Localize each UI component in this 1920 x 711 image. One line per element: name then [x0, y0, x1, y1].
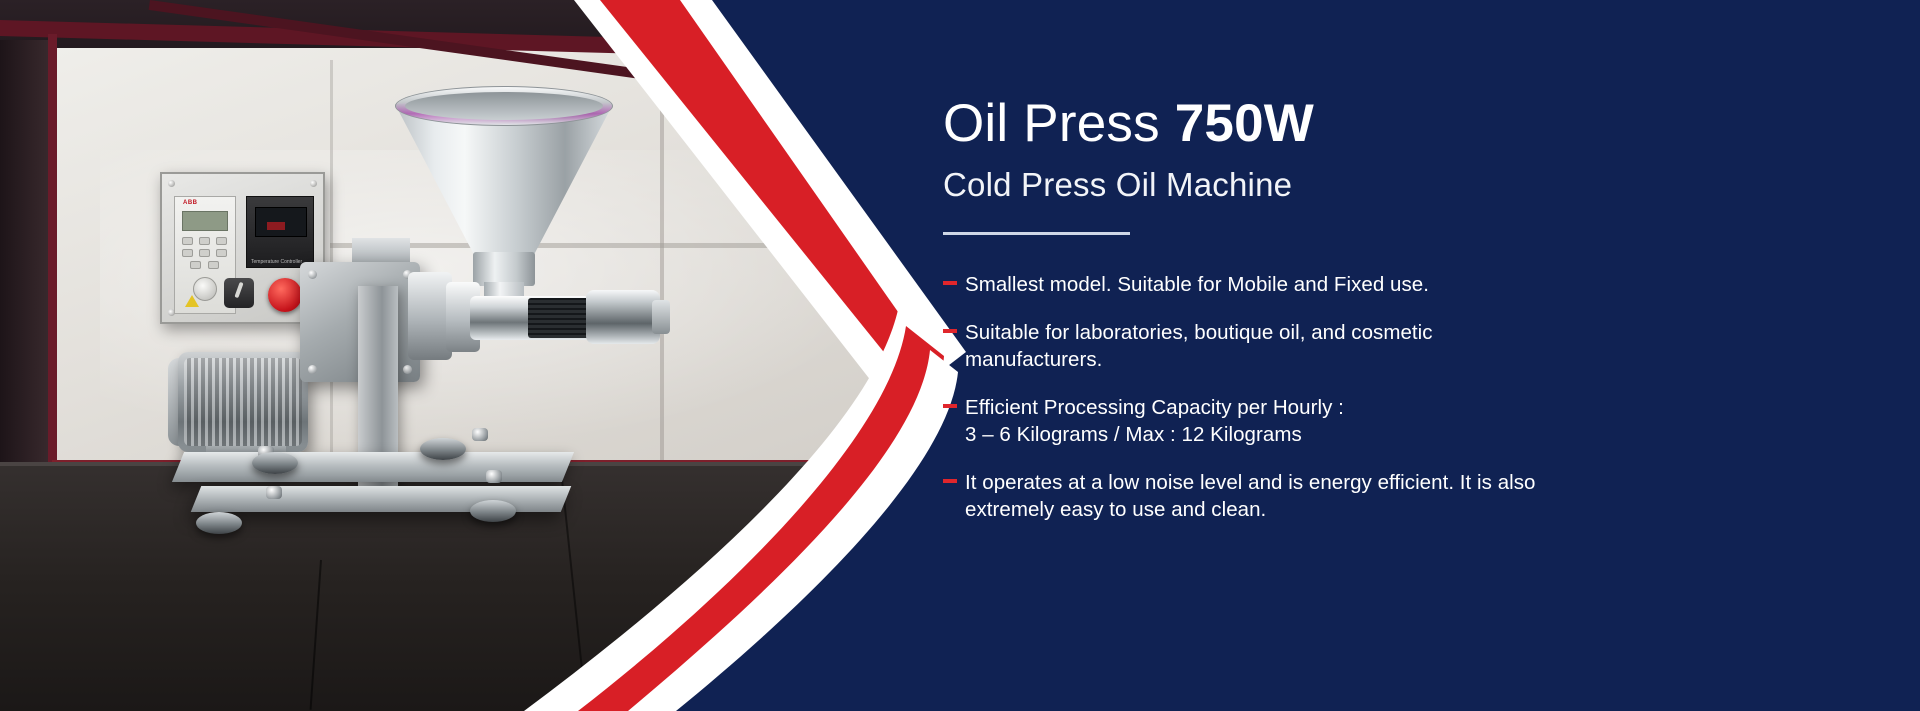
feature-text-line-1: Efficient Processing Capacity per Hourly… — [965, 396, 1344, 419]
temperature-controller-label: Temperature Controller — [251, 259, 302, 265]
inverter-key — [216, 237, 227, 245]
hopper-rim-inner — [405, 92, 603, 120]
gearbox-bolt — [403, 365, 412, 374]
feature-text-line-1: Smallest model. Suitable for Mobile and … — [965, 273, 1429, 296]
bullet-dash-icon — [943, 479, 957, 483]
gearbox-bolt — [308, 365, 317, 374]
title-divider — [943, 232, 1130, 235]
motor-cooling-fins — [184, 358, 302, 446]
list-item: Efficient Processing Capacity per Hourly… — [943, 394, 1920, 448]
bullet-dash-icon — [943, 404, 957, 408]
feature-list: Smallest model. Suitable for Mobile and … — [943, 271, 1920, 523]
photo-left-wall-edge — [48, 34, 57, 489]
list-item: Smallest model. Suitable for Mobile and … — [943, 271, 1920, 298]
inverter-key — [216, 249, 227, 257]
product-subtitle: Cold Press Oil Machine — [943, 166, 1920, 204]
inverter-key — [190, 261, 201, 269]
temperature-digits — [267, 222, 285, 230]
product-banner: ABB Temperature — [0, 0, 1920, 711]
inverter-key — [199, 249, 210, 257]
bullet-dash-icon — [943, 329, 957, 333]
page-title: Oil Press 750W — [943, 96, 1920, 152]
temperature-controller: Temperature Controller — [246, 196, 314, 268]
product-info-panel: Oil Press 750W Cold Press Oil Machine Sm… — [943, 0, 1920, 711]
press-barrel-outlet — [586, 290, 660, 344]
list-item: Suitable for laboratories, boutique oil,… — [943, 319, 1920, 373]
machine-foot — [196, 512, 242, 534]
list-item: It operates at a low noise level and is … — [943, 469, 1920, 523]
machine-foot — [470, 500, 516, 522]
photo-left-wall — [0, 40, 52, 480]
feature-text-line-2: extremely easy to use and clean. — [965, 496, 1920, 523]
feature-text-line-2: manufacturers. — [965, 346, 1920, 373]
selector-switch — [224, 278, 254, 308]
hopper-cone — [395, 104, 613, 262]
inverter-brand-label: ABB — [183, 200, 198, 206]
panel-screw — [168, 180, 175, 187]
inverter-key — [199, 237, 210, 245]
title-bold-part: 750W — [1175, 94, 1314, 153]
machine-foot — [252, 452, 298, 474]
inverter-keypad — [182, 237, 228, 271]
inverter-key — [182, 249, 193, 257]
title-light-part: Oil Press — [943, 94, 1160, 153]
inverter-key — [182, 237, 193, 245]
hopper-neck — [473, 252, 535, 286]
base-bolt — [486, 470, 502, 483]
temperature-display — [255, 207, 307, 237]
feature-text-line-1: It operates at a low noise level and is … — [965, 471, 1536, 494]
feature-text-line-1: Suitable for laboratories, boutique oil,… — [965, 321, 1433, 344]
warning-triangle-icon — [185, 295, 199, 307]
photo-panel-seam — [330, 60, 333, 460]
electric-motor — [178, 352, 308, 452]
oil-press-machine-photo: ABB Temperature — [0, 0, 935, 711]
machine-hopper — [395, 86, 613, 261]
inverter-key — [208, 261, 219, 269]
bullet-dash-icon — [943, 281, 957, 285]
gearbox-bolt — [308, 270, 317, 279]
emergency-stop-button — [268, 278, 302, 312]
photo-right-column — [900, 40, 935, 470]
inverter-lcd-screen — [182, 211, 228, 231]
panel-screw — [310, 180, 317, 187]
base-bolt — [266, 486, 282, 499]
oil-filter-screen — [528, 298, 590, 338]
machine-foot — [420, 438, 466, 460]
cake-discharge-nozzle — [652, 300, 670, 334]
feature-text-line-2: 3 – 6 Kilograms / Max : 12 Kilograms — [965, 421, 1920, 448]
photo-panel-seam-2 — [660, 60, 664, 460]
machine-base-plate-upper — [172, 452, 574, 482]
base-bolt — [472, 428, 488, 441]
